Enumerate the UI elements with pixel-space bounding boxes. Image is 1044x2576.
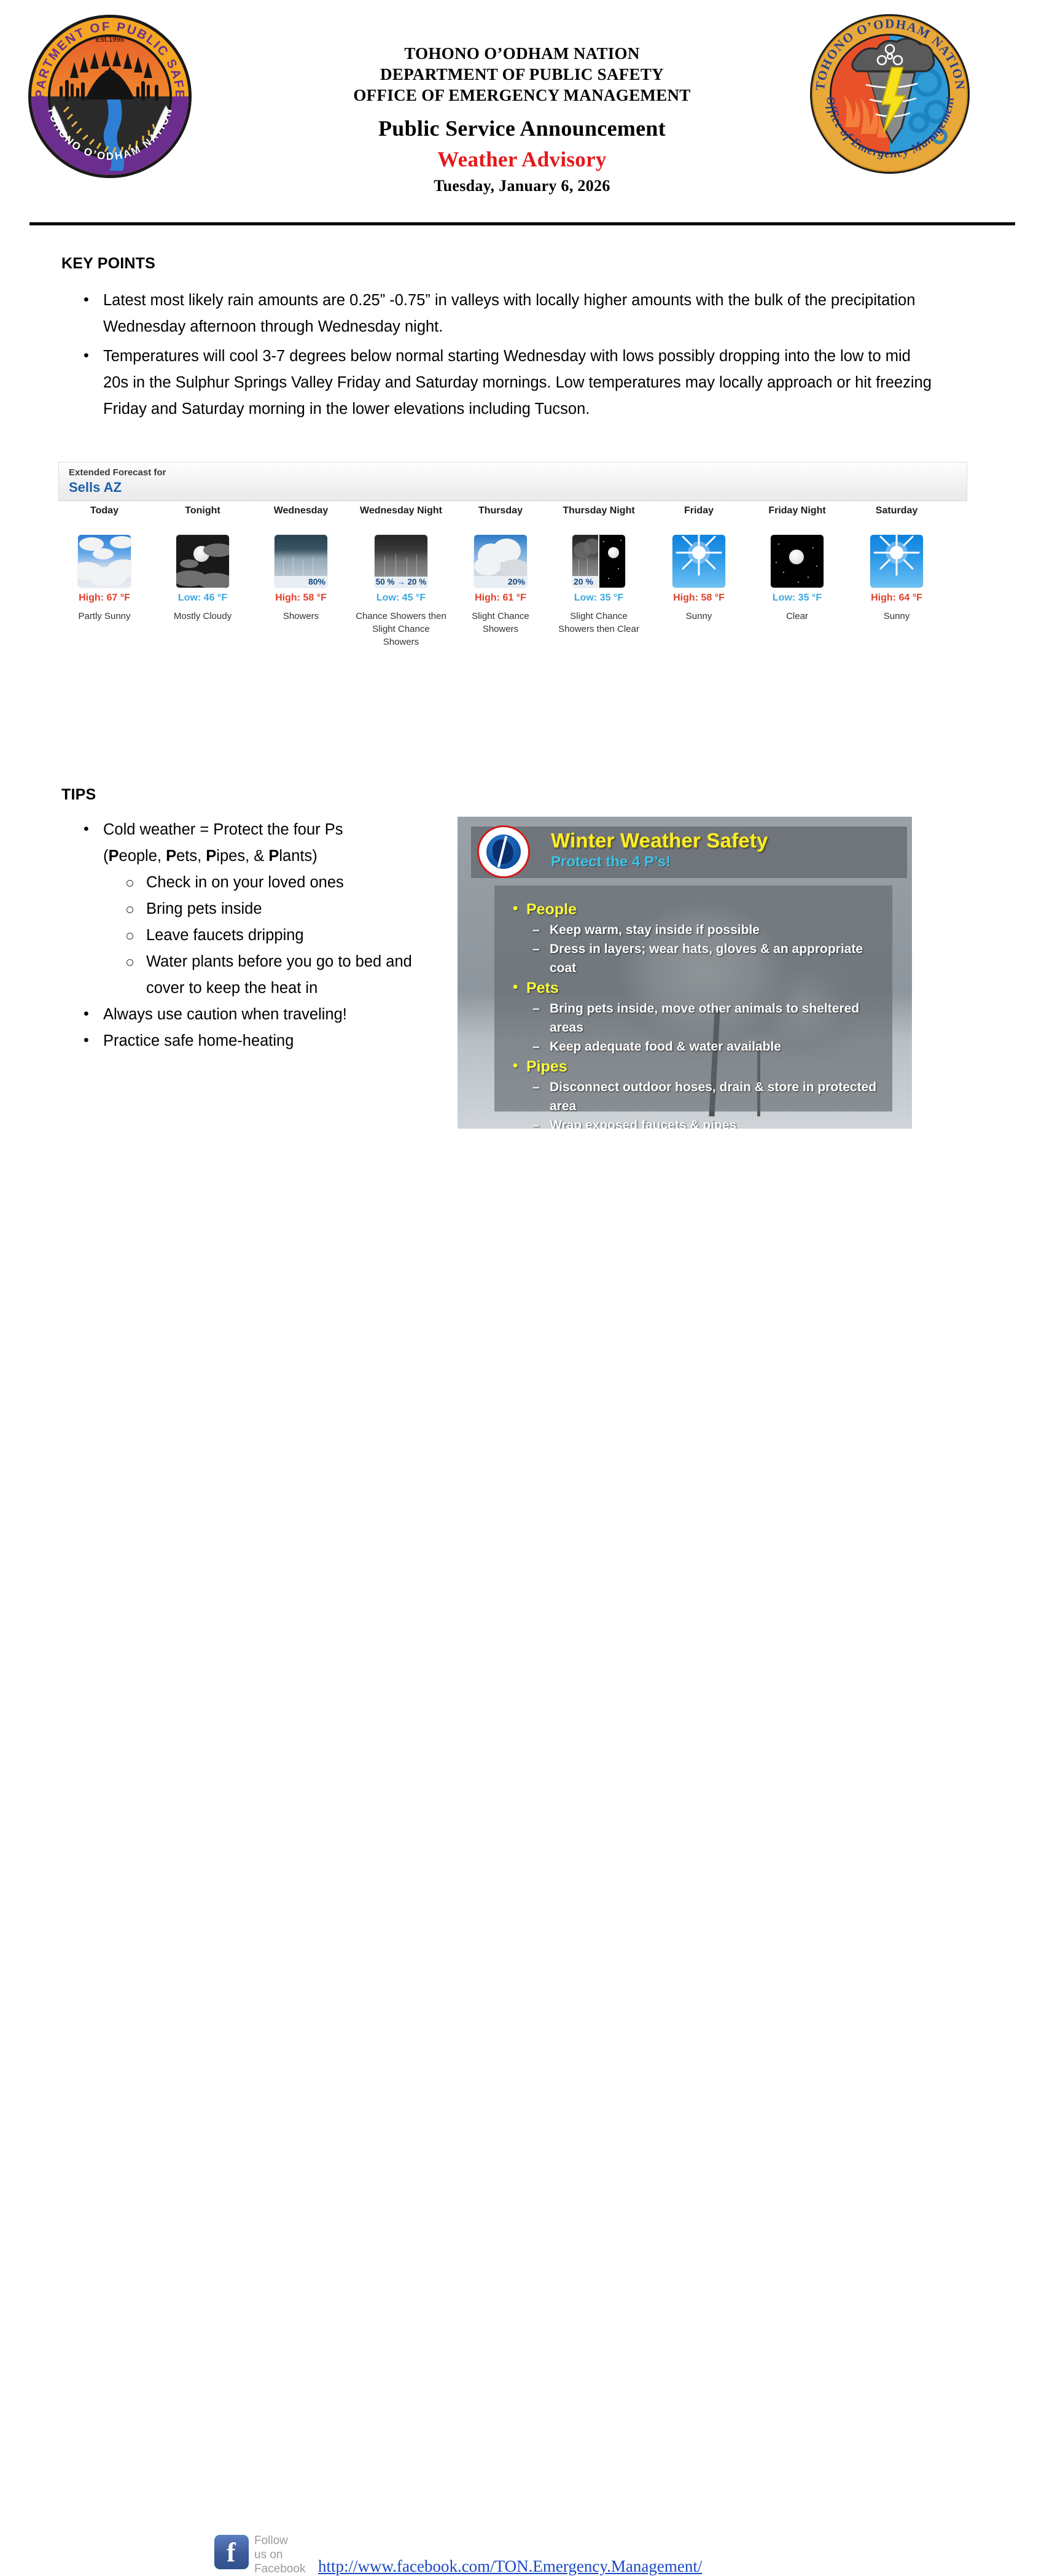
nws-globe [486,835,521,869]
winter-weather-safety-poster: Winter Weather Safety Protect the 4 P’s!… [458,817,912,1129]
forecast-temp: Low: 46 °F [157,593,249,604]
forecast-desc: Showers [255,610,347,623]
facebook-f-glyph: f [227,2539,236,2566]
forecast-desc: Mostly Cloudy [157,610,249,623]
forecast-precip-chance: 20 % [572,576,598,588]
advisory-date: Tuesday, January 6, 2026 [215,174,829,198]
forecast-header-bar: Extended Forecast for Sells AZ [58,462,967,501]
forecast-column-wednesday[interactable]: Wednesday 80% High: 58 °F Showers [255,501,347,623]
forecast-temp: High: 64 °F [851,593,943,604]
org-line-1: TOHONO O’ODHAM NATION [215,43,829,64]
key-points-heading: KEY POINTS [61,255,155,273]
forecast-column-thursday[interactable]: Thursday 20% High: 61 °F Slight Chance S… [454,501,547,636]
forecast-temp: High: 61 °F [454,593,547,604]
tips-sub-item: Water plants before you go to bed and co… [103,949,430,1002]
poster-section-item: Keep warm, stay inside if possible [508,920,881,940]
forecast-temp: Low: 35 °F [553,593,645,604]
forecast-desc: Clear [751,610,843,623]
poster-section-head: People [508,899,881,920]
forecast-desc: Slight Chance Showers then Clear [553,610,645,636]
forecast-day-label: Friday [653,501,745,531]
forecast-temp: High: 58 °F [255,593,347,604]
header-title-block: TOHONO O’ODHAM NATION DEPARTMENT OF PUBL… [215,43,829,198]
forecast-desc: Sunny [653,610,745,623]
forecast-day-label: Thursday [454,501,547,531]
key-point-item: Temperatures will cool 3-7 degrees below… [61,343,933,422]
forecast-desc: Partly Sunny [58,610,150,623]
poster-section-item: Bring pets inside, move other animals to… [508,999,881,1037]
forecast-precip-chance: 20% [474,576,527,588]
forecast-temp: Low: 35 °F [751,593,843,604]
national-weather-service-icon [477,825,530,878]
forecast-column-friday-night[interactable]: Friday Night Low: 35 °F Clear [751,501,843,623]
follow-line-1: Follow [254,2534,288,2547]
org-line-3: OFFICE OF EMERGENCY MANAGEMENT [215,85,829,106]
forecast-day-label: Wednesday [255,501,347,531]
poster-section-item: Dress in layers; wear hats, gloves & an … [508,940,881,978]
key-point-item: Latest most likely rain amounts are 0.25… [61,287,933,340]
poster-section-head: Pets [508,978,881,999]
forecast-columns: Today High: 67 °F Partly Sunny Tonight [58,501,967,698]
page-header: DEPARTMENT OF PUBLIC SAFETY Est.1998 TOH… [0,0,1044,227]
forecast-day-label: Tonight [157,501,249,531]
forecast-column-friday[interactable]: Friday High: 58 °F Sunny [653,501,745,623]
tips-item-four-ps: Cold weather = Protect the four Ps (Peop… [61,817,430,1002]
logo-left-established: Est.1998 [96,36,125,44]
forecast-city: Sells AZ [69,480,122,496]
extended-forecast-widget: Extended Forecast for Sells AZ Today Hig… [58,462,967,698]
forecast-temp: High: 67 °F [58,593,150,604]
advisory-title: Weather Advisory [215,145,829,174]
office-of-emergency-management-seal-logo: TOHONO O’ODHAM NATION Office of Emergenc… [809,14,971,175]
follow-us-label: Follow us on Facebook [254,2534,305,2576]
slight-chance-showers-icon: 20% [474,535,527,588]
forecast-day-label: Wednesday Night [355,501,447,531]
tips-sub-item: Bring pets inside [103,896,430,922]
tips-four-ps-line1: Cold weather = Protect the four Ps [103,821,343,838]
tips-list: Cold weather = Protect the four Ps (Peop… [61,817,430,1054]
icon-right-half [599,535,625,588]
poster-section-item: Wrap exposed faucets & pipes [508,1116,881,1129]
forecast-precip-chance: 80% [275,576,327,588]
sunny-icon [672,535,725,588]
header-divider [29,222,1015,225]
forecast-desc: Chance Showers then Slight Chance Shower… [355,610,447,648]
facebook-page-link[interactable]: http://www.facebook.com/TON.Emergency.Ma… [318,2557,702,2576]
tips-sublist: Check in on your loved ones Bring pets i… [103,870,430,1002]
tips-heading: TIPS [61,786,96,804]
slight-chance-showers-then-clear-icon: 20 % [572,535,625,588]
poster-body: People Keep warm, stay inside if possibl… [494,885,892,1111]
partly-sunny-icon [78,535,131,588]
tips-sub-item: Check in on your loved ones [103,870,430,896]
psa-title: Public Service Announcement [215,112,829,145]
forecast-temp: Low: 45 °F [355,593,447,604]
forecast-day-label: Thursday Night [553,501,645,531]
tips-four-ps-line2: (People, Pets, Pipes, & Plants) [103,847,317,865]
forecast-day-label: Today [58,501,150,531]
forecast-column-tonight[interactable]: Tonight Low: 46 °F Mostly Cloudy [157,501,249,623]
forecast-column-today[interactable]: Today High: 67 °F Partly Sunny [58,501,150,623]
forecast-label: Extended Forecast for [69,467,166,478]
key-points-list: Latest most likely rain amounts are 0.25… [61,287,933,426]
showers-icon: 80% [275,535,327,588]
forecast-day-label: Saturday [851,501,943,531]
forecast-day-label: Friday Night [751,501,843,531]
forecast-precip-chance: 50 % → 20 % [375,577,427,588]
tips-item-caution: Always use caution when traveling! [61,1002,430,1028]
clear-night-icon [771,535,824,588]
forecast-column-thursday-night[interactable]: Thursday Night 20 % Low: 35 °F Slight Ch… [553,501,645,636]
poster-section-item: Keep adequate food & water available [508,1037,881,1056]
forecast-desc: Sunny [851,610,943,623]
follow-line-3: Facebook [254,2562,305,2575]
tips-item-home-heating: Practice safe home-heating [61,1028,430,1054]
tips-sub-item: Leave faucets dripping [103,922,430,949]
follow-line-2: us on [254,2548,282,2561]
poster-section-head: Pipes [508,1056,881,1078]
facebook-icon[interactable]: f [214,2535,249,2569]
forecast-temp: High: 58 °F [653,593,745,604]
sunny-icon [870,535,923,588]
mostly-cloudy-night-icon [176,535,229,588]
poster-subtitle: Protect the 4 P’s! [551,854,671,871]
page-footer: f Follow us on Facebook http://www.faceb… [0,1265,1044,1339]
poster-section-item: Disconnect outdoor hoses, drain & store … [508,1078,881,1116]
icon-left-half: 20 % [572,535,598,588]
forecast-column-saturday[interactable]: Saturday High: 64 °F Sunny [851,501,943,623]
chance-showers-night-icon: 50 % → 20 % [375,535,427,588]
org-line-2: DEPARTMENT OF PUBLIC SAFETY [215,64,829,85]
forecast-desc: Slight Chance Showers [454,610,547,636]
tohono-oodham-dps-seal-logo: DEPARTMENT OF PUBLIC SAFETY Est.1998 TOH… [27,14,193,179]
forecast-column-wednesday-night[interactable]: Wednesday Night 50 % → 20 % Low: 45 °F C… [355,501,447,648]
poster-title: Winter Weather Safety [551,829,768,852]
